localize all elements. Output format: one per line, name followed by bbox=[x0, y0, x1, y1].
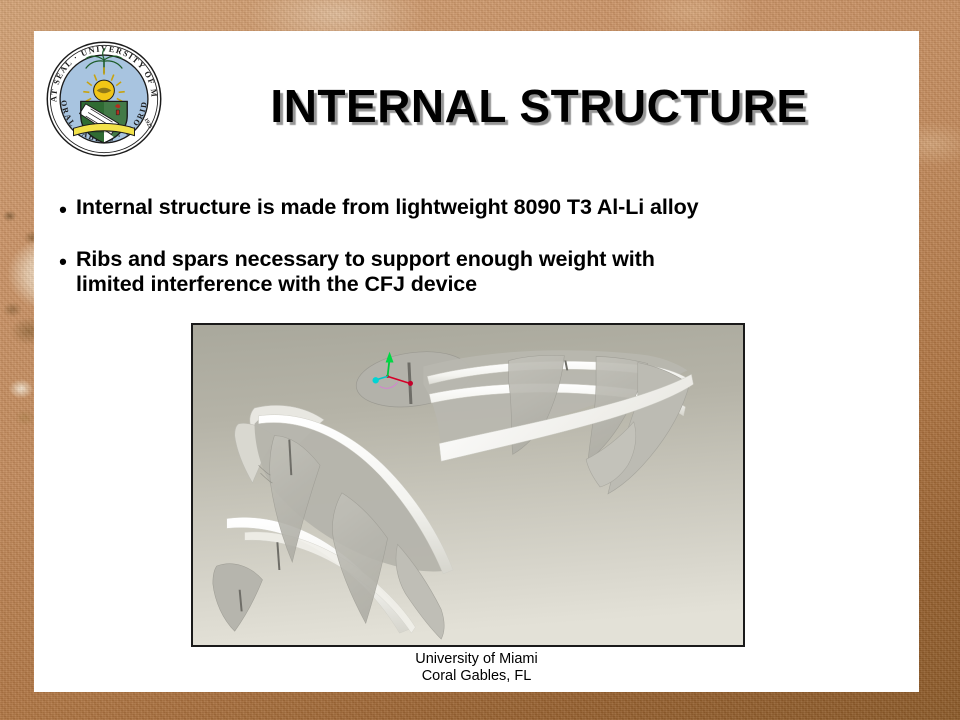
bullet-2-line-2: limited interference with the CFJ device bbox=[76, 272, 655, 297]
bullet-marker-icon: • bbox=[50, 195, 76, 225]
bullet-2-line-1: Ribs and spars necessary to support enou… bbox=[76, 247, 655, 271]
bullet-text-1: Internal structure is made from lightwei… bbox=[76, 195, 699, 220]
bullet-list: • Internal structure is made from lightw… bbox=[50, 195, 910, 319]
slide-title: INTERNAL STRUCTURE bbox=[174, 79, 904, 133]
bullet-marker-icon: • bbox=[50, 247, 76, 277]
bullet-item-1: • Internal structure is made from lightw… bbox=[50, 195, 910, 225]
caption-line-1: University of Miami bbox=[34, 651, 919, 668]
bullet-text-2: Ribs and spars necessary to support enou… bbox=[76, 247, 655, 297]
caption-line-2: Coral Gables, FL bbox=[34, 668, 919, 685]
slide-content-panel: GREAT SEAL · UNIVERSITY OF MIAMI CORAL G… bbox=[34, 31, 919, 692]
cad-render-image bbox=[193, 325, 743, 645]
figure-caption: University of Miami Coral Gables, FL bbox=[34, 651, 919, 685]
university-of-miami-seal-logo: GREAT SEAL · UNIVERSITY OF MIAMI CORAL G… bbox=[43, 38, 165, 160]
bullet-1-line-1: Internal structure is made from lightwei… bbox=[76, 195, 699, 219]
slide-background: GREAT SEAL · UNIVERSITY OF MIAMI CORAL G… bbox=[0, 0, 960, 720]
wing-structure-figure bbox=[191, 323, 745, 647]
bullet-item-2: • Ribs and spars necessary to support en… bbox=[50, 247, 910, 297]
seal-icon: GREAT SEAL · UNIVERSITY OF MIAMI CORAL G… bbox=[43, 38, 165, 160]
